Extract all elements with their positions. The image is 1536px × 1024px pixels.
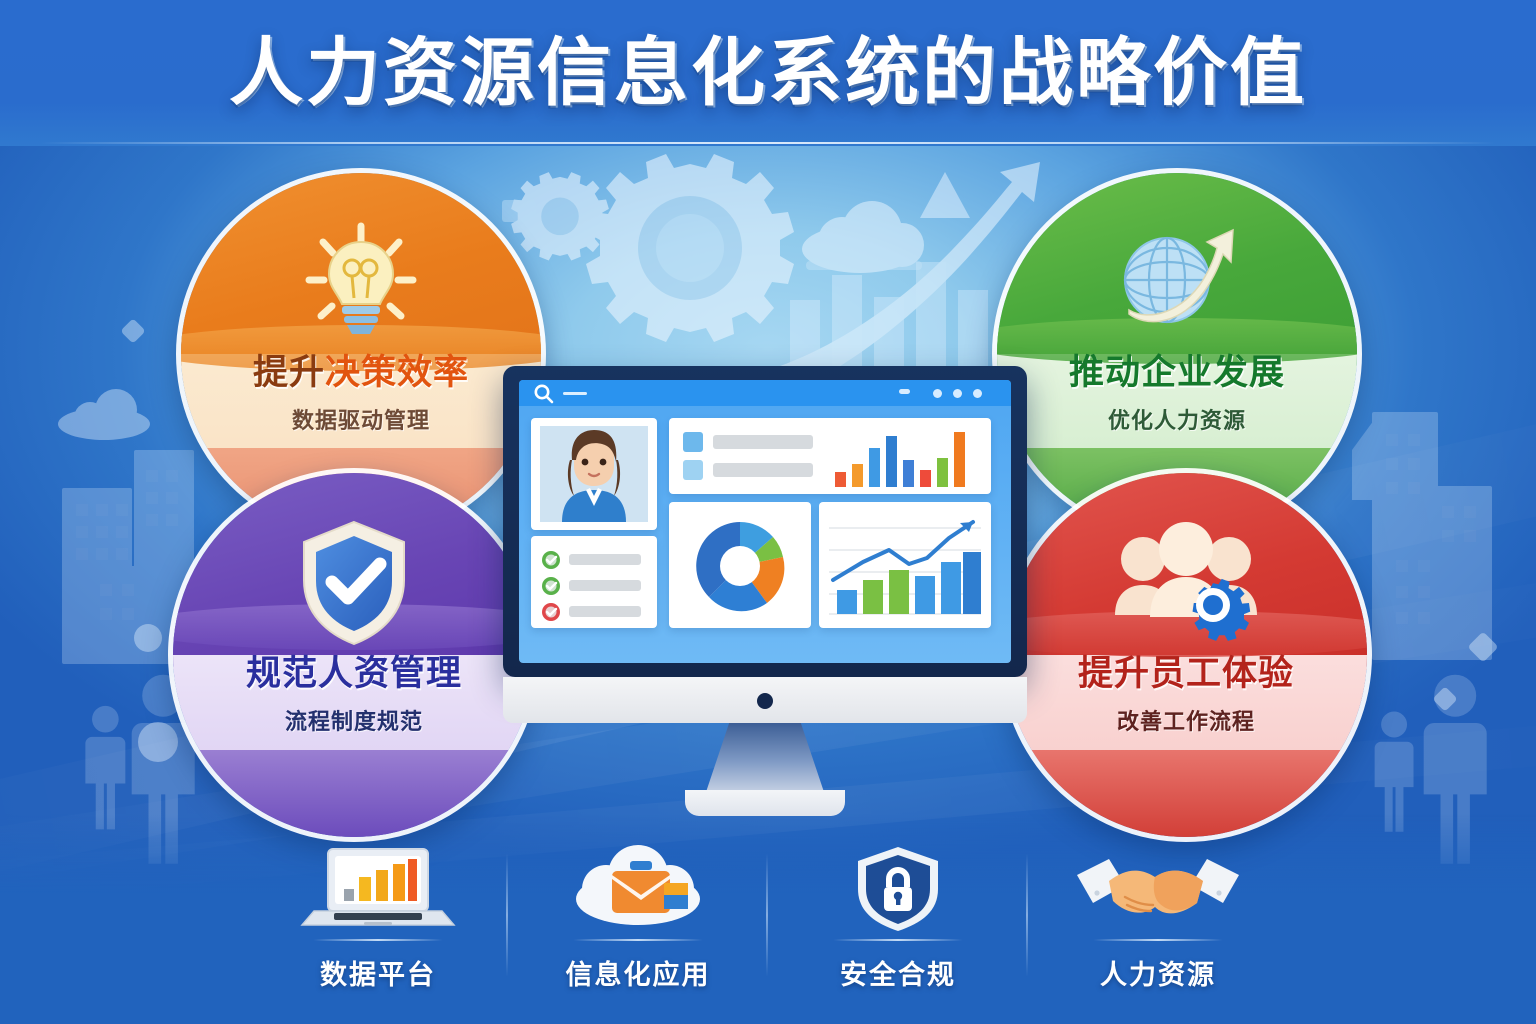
circle-subtitle: 数据驱动管理 (203, 403, 520, 435)
trend-chart-card[interactable] (819, 502, 991, 628)
bottom-item-label: 数据平台 (248, 953, 508, 992)
bottom-item-cloud-apps[interactable]: 信息化应用 (508, 845, 768, 997)
circle-heading: 推动企业发展 (1019, 354, 1336, 393)
desktop-monitor[interactable] (503, 366, 1027, 816)
check-circle-icon-2 (541, 576, 561, 596)
monitor-screen[interactable] (519, 380, 1011, 663)
list-bullet-2 (683, 460, 703, 480)
app-titlebar (519, 380, 1011, 406)
bottom-item-label: 人力资源 (1028, 953, 1288, 992)
bottom-item-human-resources[interactable]: 人力资源 (1028, 845, 1288, 997)
search-icon[interactable] (533, 383, 555, 405)
circle-heading-part1: 提升 (253, 353, 325, 392)
window-minimize-dot[interactable] (899, 389, 910, 394)
title-divider (40, 142, 1496, 144)
window-dot-2[interactable] (953, 389, 962, 398)
donut-chart (684, 512, 796, 620)
bottom-item-underline (313, 939, 443, 941)
circle-heading: 规范人资管理 (195, 655, 514, 694)
bottom-item-underline (1093, 939, 1223, 941)
bottom-item-security[interactable]: 安全合规 (768, 845, 1028, 997)
circle-text-block: 规范人资管理 流程制度规范 (195, 655, 514, 736)
circle-heading-part2: 决策效率 (325, 353, 469, 392)
checklist-row-3-label (569, 606, 641, 617)
window-dot-1[interactable] (933, 389, 942, 398)
checklist-card[interactable] (531, 536, 657, 628)
circle-subtitle: 流程制度规范 (195, 704, 514, 736)
window-dot-3[interactable] (973, 389, 982, 398)
circle-band-bottom (173, 750, 535, 837)
circle-subtitle: 改善工作流程 (1027, 704, 1346, 736)
employee-profile-card[interactable] (531, 418, 657, 530)
bottom-item-underline (833, 939, 963, 941)
circle-band-bottom (1005, 750, 1367, 837)
circle-heading: 提升员工体验 (1027, 655, 1346, 694)
check-circle-icon-1 (541, 550, 561, 570)
checklist-row-1-label (569, 554, 641, 565)
circle-text-block: 推动企业发展 优化人力资源 (1019, 354, 1336, 435)
circle-subtitle: 优化人力资源 (1019, 403, 1336, 435)
shield-check-icon (173, 509, 535, 655)
circle-heading: 提升决策效率 (203, 354, 520, 393)
page-title: 人力资源信息化系统的战略价值 (0, 34, 1536, 112)
list-row-1-label (713, 435, 813, 449)
cloud-briefcase-icon (508, 845, 768, 931)
infographic-poster: 人力资源信息化系统的战略价值 (0, 0, 1536, 1024)
bottom-feature-row: 数据平台 信息化应用 (248, 845, 1288, 997)
bottom-item-data-platform[interactable]: 数据平台 (248, 845, 508, 997)
value-circle-employee-experience[interactable]: 提升员工体验 改善工作流程 (1000, 468, 1372, 842)
bar-chart-with-trend-line (823, 506, 987, 624)
monitor-chin (503, 677, 1027, 723)
employee-portrait (540, 426, 648, 522)
monitor-bezel (503, 366, 1027, 677)
circle-text-block: 提升员工体验 改善工作流程 (1027, 655, 1346, 736)
circle-text-block: 提升决策效率 数据驱动管理 (203, 354, 520, 435)
bar-chart (833, 426, 981, 488)
bottom-item-label: 信息化应用 (508, 953, 768, 992)
people-gear-icon (1005, 509, 1367, 655)
list-bullet-1 (683, 432, 703, 452)
bottom-item-underline (573, 939, 703, 941)
shield-lock-icon (768, 845, 1028, 931)
value-circle-hr-governance[interactable]: 规范人资管理 流程制度规范 (168, 468, 540, 842)
donut-chart-card[interactable] (669, 502, 811, 628)
monitor-led-icon (757, 693, 773, 709)
list-row-2-label (713, 463, 813, 477)
monitor-stand-base (685, 790, 845, 816)
summary-bar-card[interactable] (669, 418, 991, 494)
lightbulb-icon (181, 209, 541, 354)
handshake-icon (1028, 845, 1288, 931)
laptop-chart-icon (248, 845, 508, 931)
titlebar-divider (563, 392, 587, 395)
bottom-item-label: 安全合规 (768, 953, 1028, 992)
checklist-row-2-label (569, 580, 641, 591)
check-circle-icon-3 (541, 602, 561, 622)
globe-growth-arrow-icon (997, 209, 1357, 354)
